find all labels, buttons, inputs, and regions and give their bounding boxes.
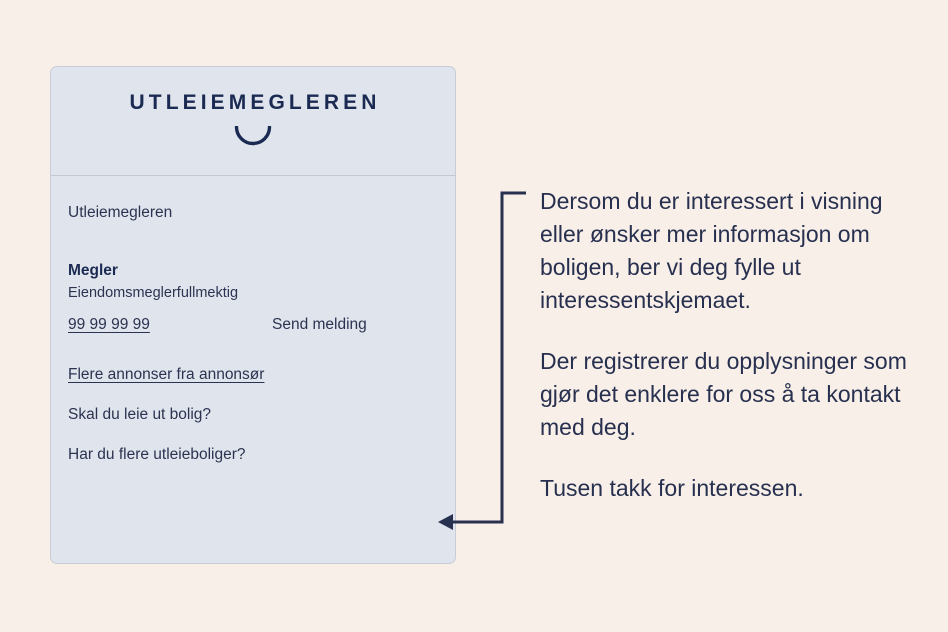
agent-role-heading: Megler [68,261,438,280]
broker-contact-card: UTLEIEMEGLEREN Utleiemegleren Megler Eie… [50,66,456,564]
card-body: Utleiemegleren Megler Eiendomsmeglerfull… [51,176,455,563]
organization-name: Utleiemegleren [68,204,438,223]
card-header: UTLEIEMEGLEREN [51,67,455,176]
annotation-paragraph-1: Dersom du er interessert i visning eller… [540,185,920,317]
agent-block: Megler Eiendomsmeglerfullmektig 99 99 99… [68,261,438,334]
rent-out-home-link[interactable]: Skal du leie ut bolig? [68,406,438,424]
annotation-paragraph-3: Tusen takk for interessen. [540,472,920,505]
smile-arc-icon [234,126,272,145]
more-ads-from-advertiser-link[interactable]: Flere annonser fra annonsør [68,366,438,384]
phone-number-link[interactable]: 99 99 99 99 [68,316,272,334]
contact-row: 99 99 99 99 Send melding [68,316,438,334]
agent-job-title: Eiendomsmeglerfullmektig [68,284,438,303]
more-rental-homes-link[interactable]: Har du flere utleieboliger? [68,446,438,464]
screenshot-stage: UTLEIEMEGLEREN Utleiemegleren Megler Eie… [0,0,948,632]
brand-wordmark: UTLEIEMEGLEREN [125,92,380,113]
send-message-link[interactable]: Send melding [272,316,367,334]
annotation-paragraph-2: Der registrerer du opplysninger som gjør… [540,345,920,444]
annotation-text: Dersom du er interessert i visning eller… [540,185,920,505]
